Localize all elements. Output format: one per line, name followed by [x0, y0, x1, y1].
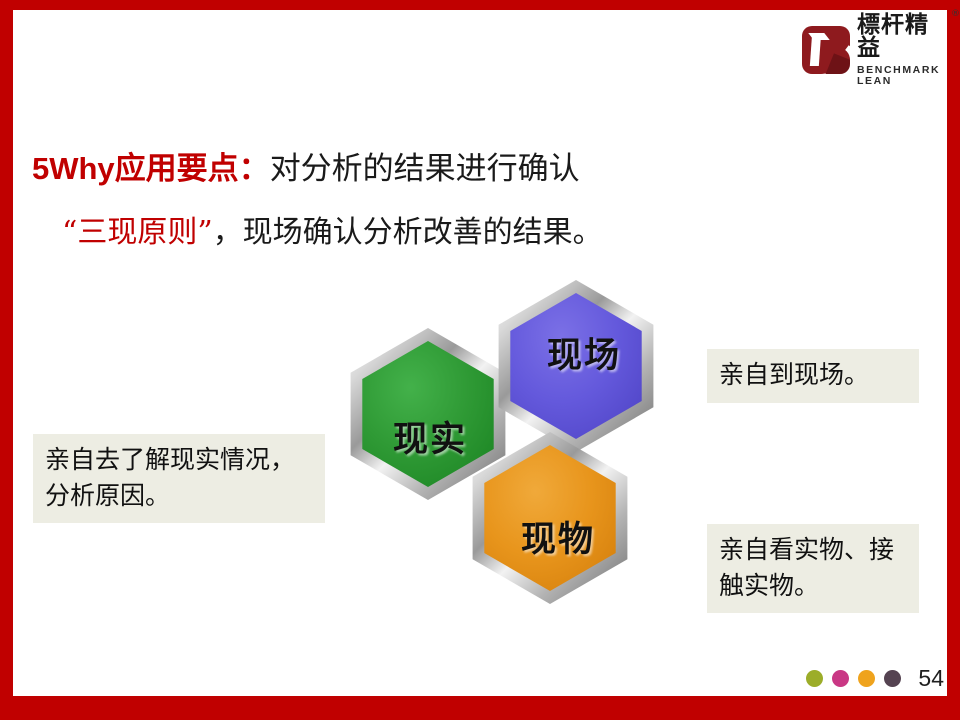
hexagon-label-xianchang: 现场: [498, 266, 670, 438]
logo-name-cn: 標杆精益 ®: [857, 14, 952, 60]
hexagon-xianchang: 现场: [490, 280, 662, 452]
company-logo: 標杆精益 ® BENCHMARK LEAN: [802, 22, 952, 78]
dot-plum: [884, 670, 901, 687]
logo-wordmark: 標杆精益 ® BENCHMARK LEAN: [857, 14, 952, 86]
page-title: 5Why应用要点：对分析的结果进行确认: [32, 143, 580, 188]
frame-top-border: [0, 0, 960, 10]
logo-name-en: BENCHMARK LEAN: [857, 65, 952, 86]
frame-left-border: [0, 0, 13, 720]
title-highlight-cn: 应用要点：: [115, 151, 270, 187]
callout-xianchang: 亲自到现场。: [707, 349, 919, 403]
frame-right-border: [947, 0, 960, 720]
three-gen-hexagon-diagram: 现实 现场 现物: [340, 280, 700, 640]
page-number: 54: [918, 665, 944, 692]
title-highlight-en: 5Why: [32, 151, 115, 186]
dot-amber: [858, 670, 875, 687]
title-rest: 对分析的结果进行确认: [270, 151, 580, 186]
slide-footer: 54: [806, 665, 944, 692]
registered-mark-icon: ®: [951, 10, 960, 19]
page-subtitle: “三现原则”，现场确认分析改善的结果。: [62, 207, 603, 251]
hexagon-label-xianwu: 现物: [472, 450, 644, 622]
hexagon-xianwu: 现物: [464, 432, 636, 604]
dot-olive: [806, 670, 823, 687]
slide-root: 標杆精益 ® BENCHMARK LEAN 5Why应用要点：对分析的结果进行确…: [0, 0, 960, 720]
logo-mark-icon: [802, 26, 850, 74]
subtitle-highlight: “三现原则”: [62, 215, 213, 250]
frame-bottom-border: [0, 696, 960, 720]
callout-xianshi: 亲自去了解现实情况，分析原因。: [33, 434, 325, 523]
subtitle-rest: ，现场确认分析改善的结果。: [213, 216, 603, 249]
logo-name-cn-text: 標杆精益: [857, 12, 929, 61]
dot-magenta: [832, 670, 849, 687]
callout-xianwu: 亲自看实物、接触实物。: [707, 524, 919, 613]
